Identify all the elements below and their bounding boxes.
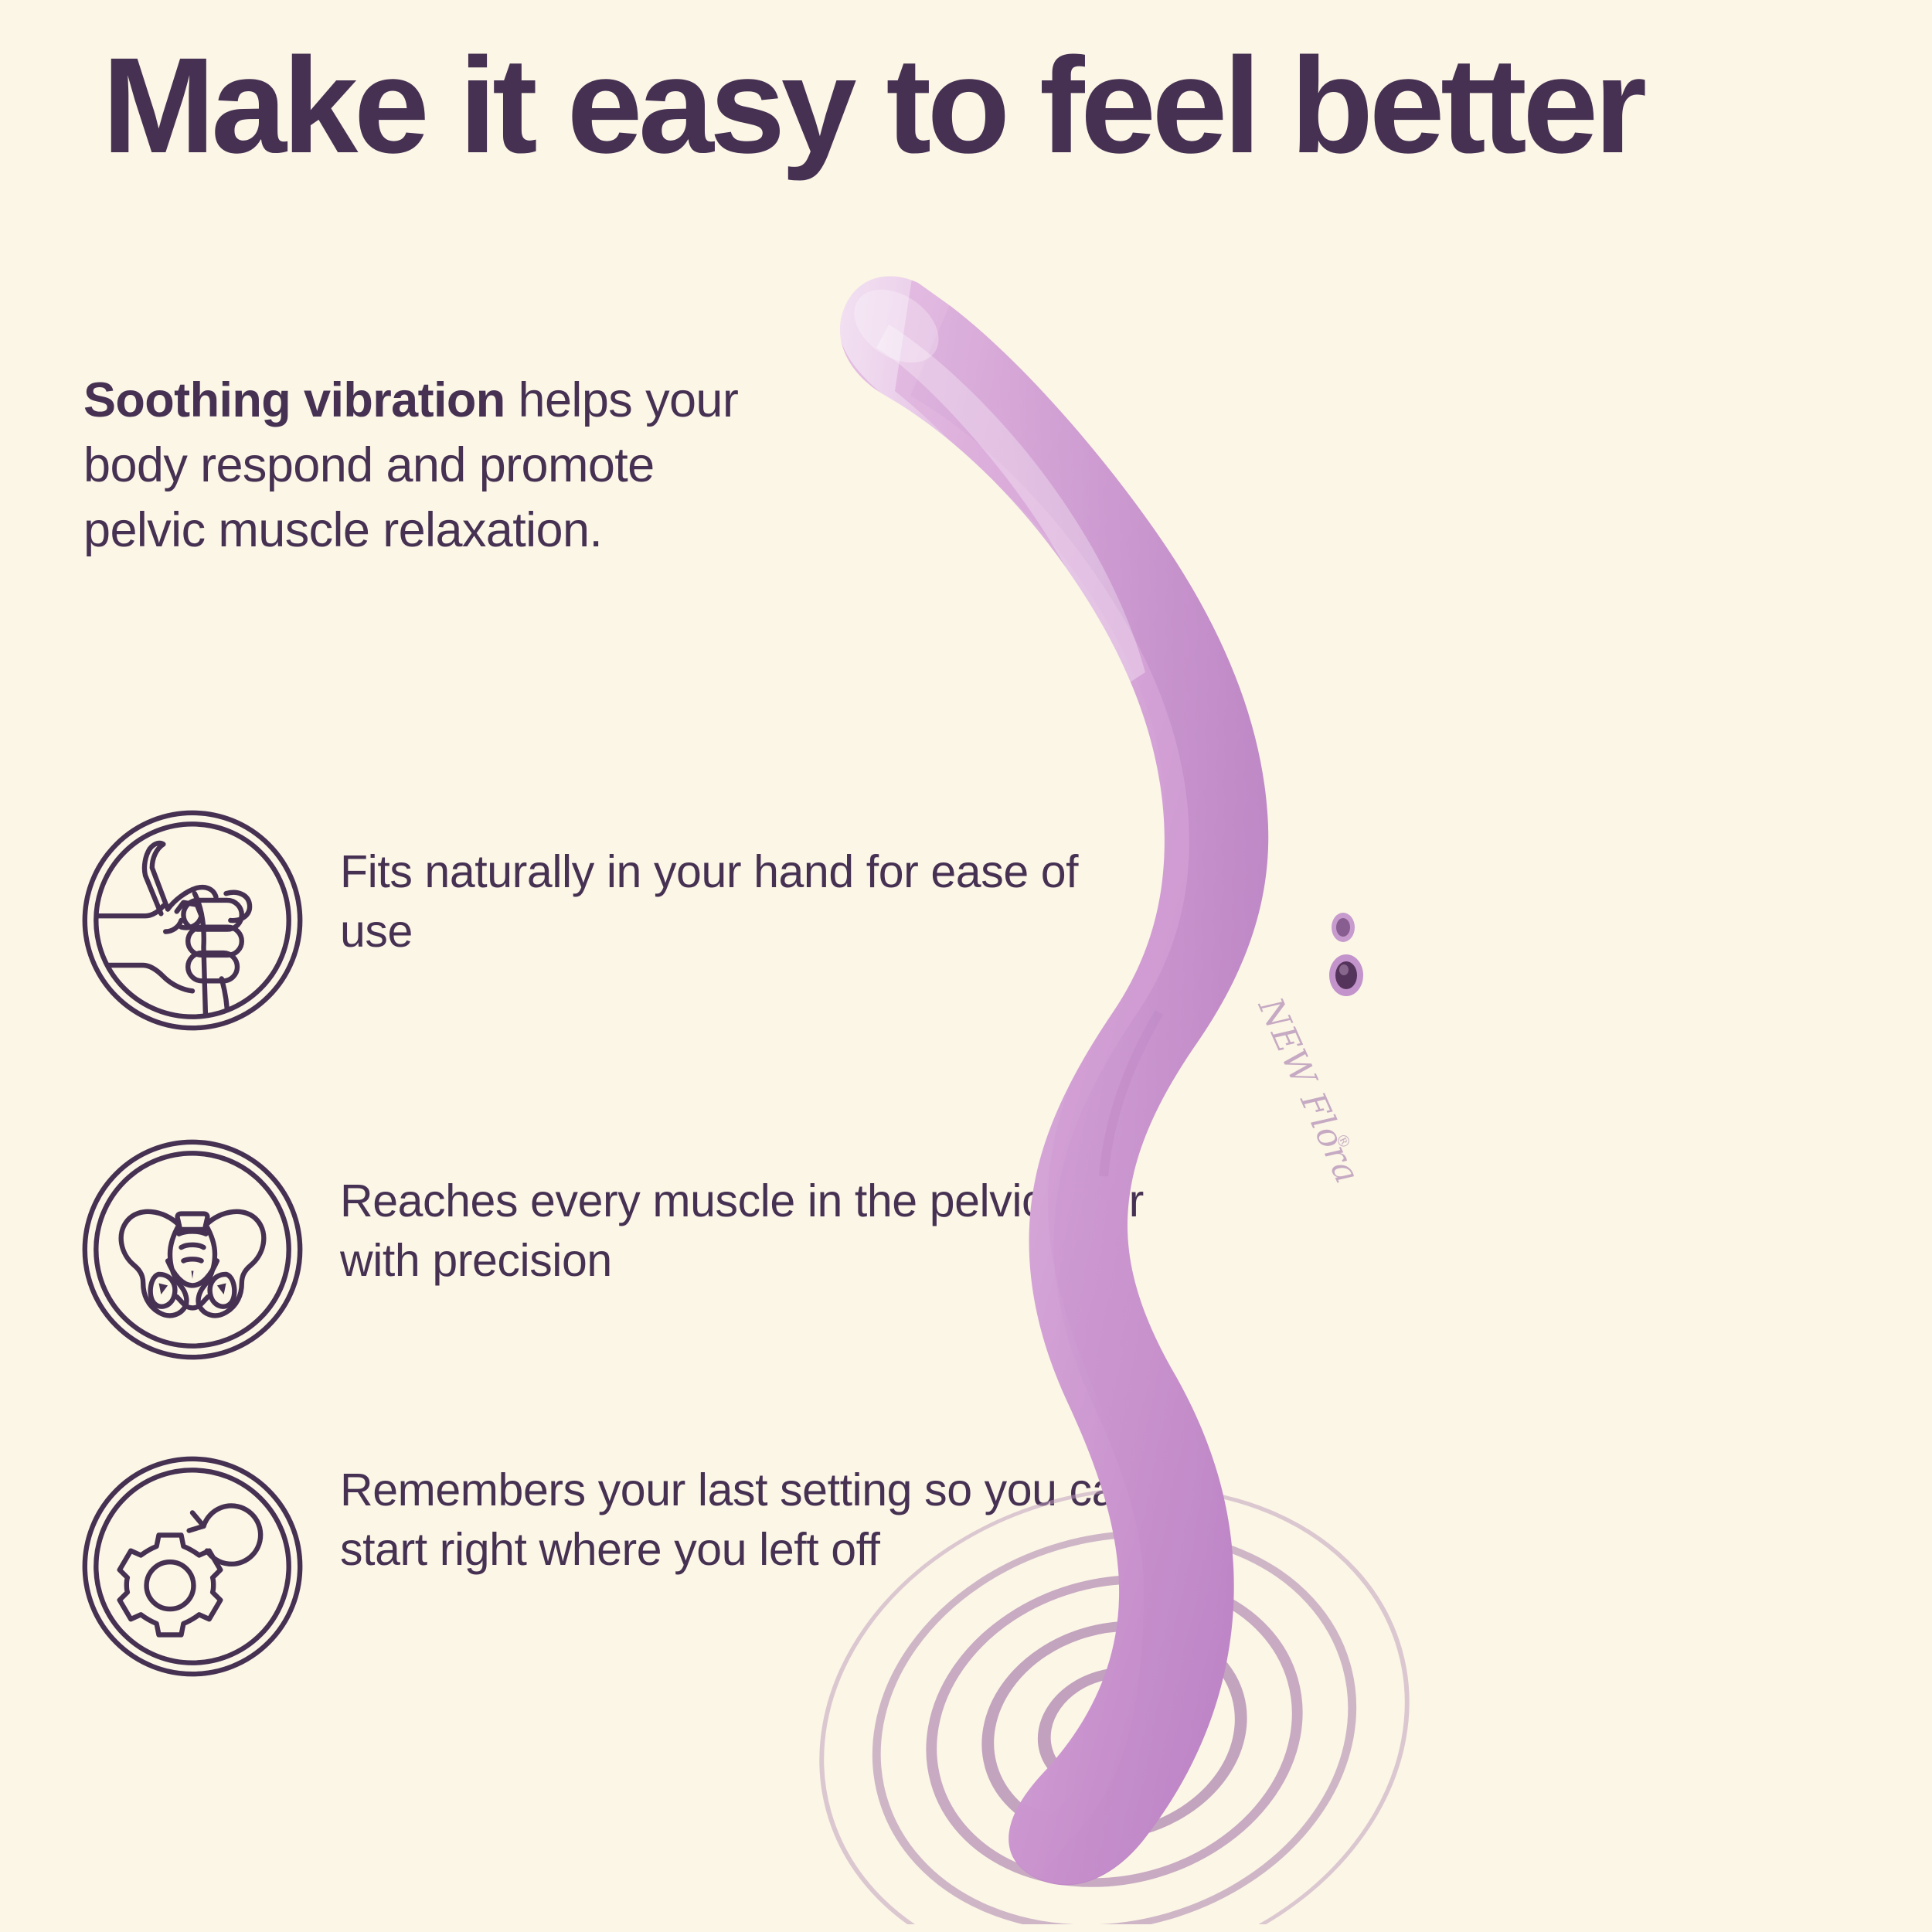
power-button[interactable]: [1329, 954, 1363, 996]
brand-emboss: NEW Flora ®: [1250, 991, 1369, 1189]
page-title: Make it easy to feel better: [102, 34, 1872, 179]
gear-restore-icon: [80, 1454, 304, 1679]
intro-lead: Soothing vibration: [83, 373, 505, 427]
led-indicator[interactable]: [1332, 913, 1355, 942]
brand-emboss-text: NEW Flora: [1250, 992, 1368, 1190]
hand-grip-icon: [80, 808, 304, 1032]
pelvic-wand-product-image: NEW Flora ®: [796, 232, 1924, 1924]
pelvis-icon: [80, 1138, 304, 1362]
intro-paragraph: Soothing vibration helps your body respo…: [83, 369, 764, 563]
poster-canvas: Make it easy to feel better Soothing vib…: [0, 0, 1932, 1932]
